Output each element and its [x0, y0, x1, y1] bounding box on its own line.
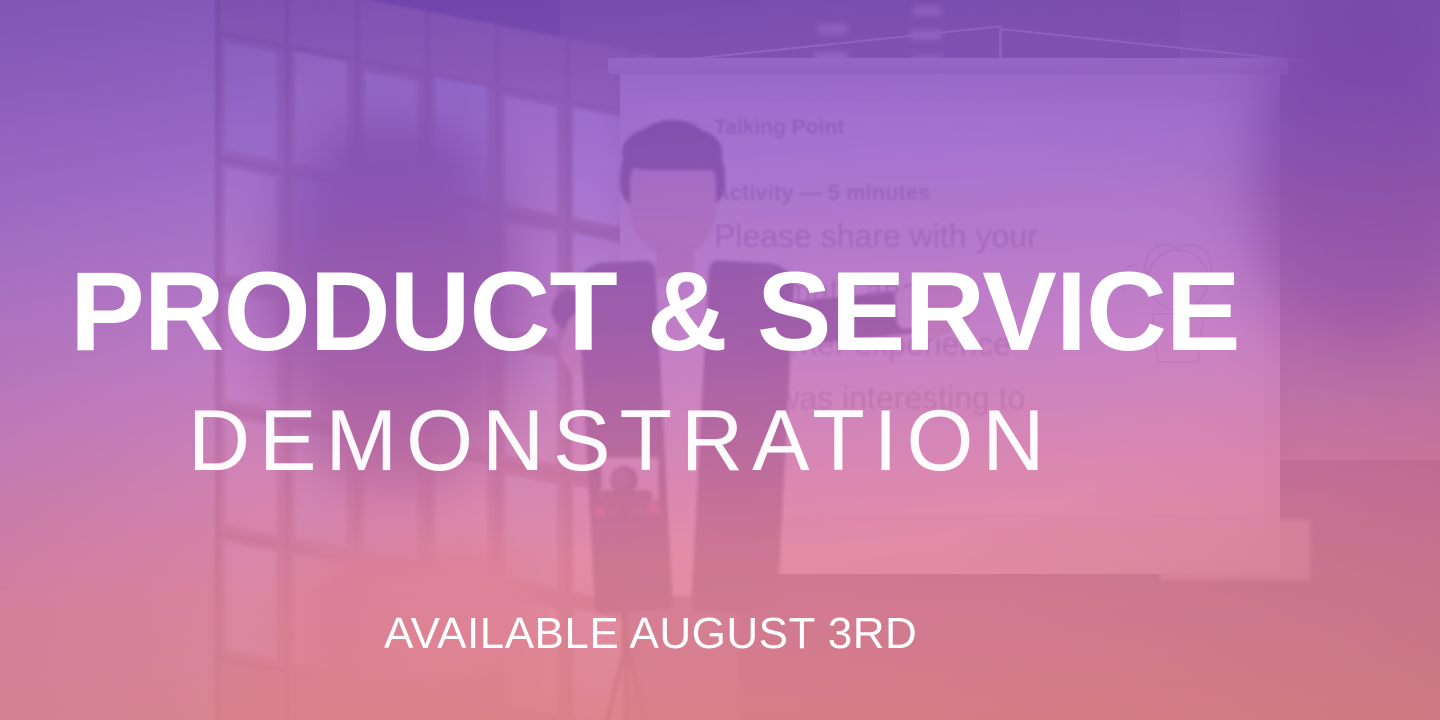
- headline: PRODUCT & SERVICE: [70, 256, 1240, 368]
- availability-text: AVAILABLE AUGUST 3RD: [384, 612, 917, 656]
- text-layer: PRODUCT & SERVICE DEMONSTRATION AVAILABL…: [0, 0, 1440, 720]
- promo-poster: Talking Point Activity — 5 minutes Pleas…: [0, 0, 1440, 720]
- subheadline: DEMONSTRATION: [188, 398, 1054, 484]
